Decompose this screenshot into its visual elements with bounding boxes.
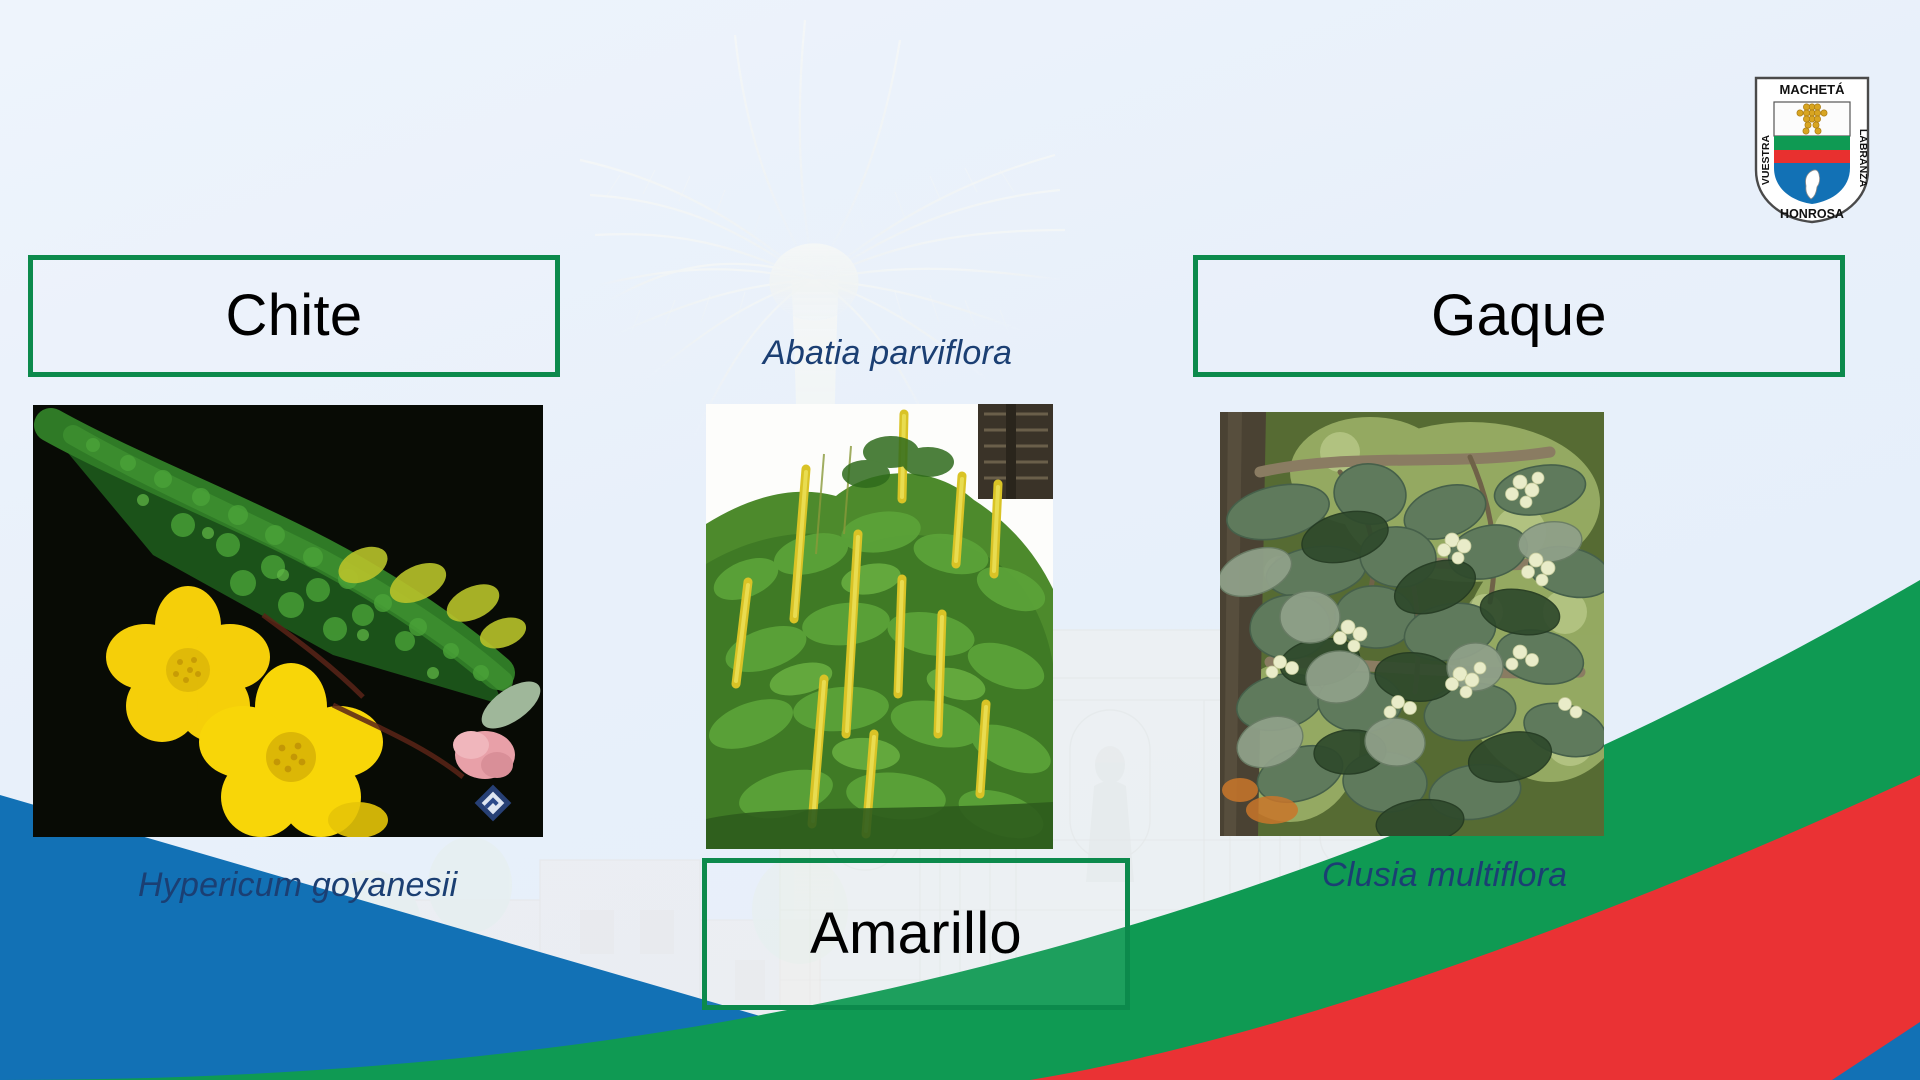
photo-amarillo [706,404,1053,849]
macheta-crest-icon: MACHETÁ VUESTRA LABRANZA HONROSA [1750,72,1874,227]
photo-chite [33,405,543,837]
scientific-name-abatia: Abatia parviflora [763,334,1012,373]
slide-canvas: MACHETÁ VUESTRA LABRANZA HONROSA Chite [0,0,1920,1080]
label-box-chite: Chite [28,255,560,377]
common-name-amarillo: Amarillo [810,905,1022,963]
scientific-name-clusia: Clusia multiflora [1322,856,1567,895]
common-name-chite: Chite [226,287,363,345]
crest-left-text: VUESTRA [1760,135,1772,186]
photo-gaque [1220,412,1604,836]
common-name-gaque: Gaque [1431,287,1607,345]
crest-bottom-text: HONROSA [1780,207,1844,221]
crest-top-text: MACHETÁ [1780,82,1846,97]
scientific-name-hypericum: Hypericum goyanesii [138,866,457,905]
label-box-amarillo: Amarillo [702,858,1130,1010]
label-box-gaque: Gaque [1193,255,1845,377]
crest-right-text: LABRANZA [1857,129,1869,188]
